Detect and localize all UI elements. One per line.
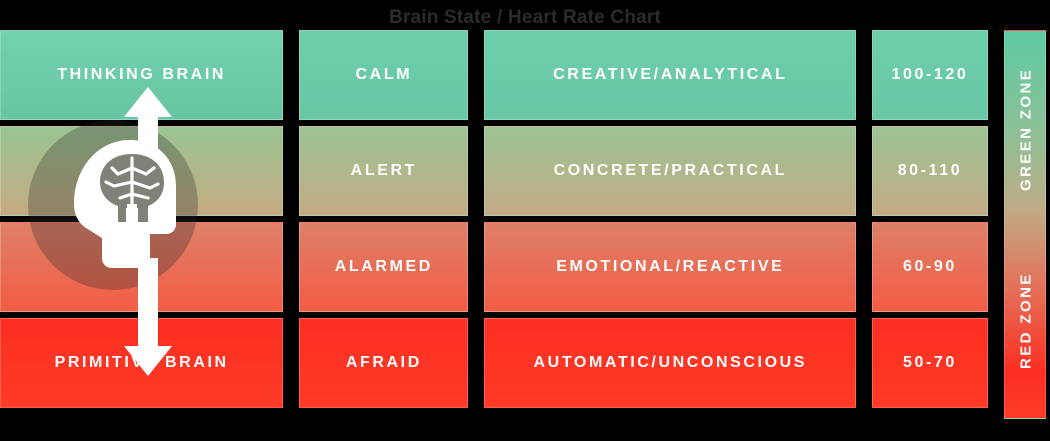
cell-mode: EMOTIONAL/REACTIVE (484, 222, 856, 312)
chart-grid: THINKING BRAIN CALM CREATIVE/ANALYTICAL … (0, 30, 1050, 419)
column-divider (856, 222, 872, 312)
table-row: ALARMED EMOTIONAL/REACTIVE 60-90 (0, 222, 988, 312)
cell-range: 60-90 (872, 222, 988, 312)
zone-bar: GREEN ZONE RED ZONE (1004, 30, 1046, 419)
cell-brain: PRIMITIVE BRAIN (0, 318, 283, 408)
brain-state-chart: Brain State / Heart Rate Chart THINKING … (0, 0, 1050, 441)
zone-label-red: RED ZONE (1005, 227, 1046, 415)
table-row: ALERT CONCRETE/PRACTICAL 80-110 (0, 126, 988, 216)
table-row: THINKING BRAIN CALM CREATIVE/ANALYTICAL … (0, 30, 988, 120)
zone-label-green: GREEN ZONE (1005, 35, 1046, 223)
cell-brain (0, 222, 283, 312)
cell-range: 100-120 (872, 30, 988, 120)
page-title: Brain State / Heart Rate Chart (0, 8, 1050, 30)
cell-mode: CONCRETE/PRACTICAL (484, 126, 856, 216)
cell-state: AFRAID (299, 318, 468, 408)
column-divider (856, 126, 872, 216)
cell-brain: THINKING BRAIN (0, 30, 283, 120)
cell-range: 80-110 (872, 126, 988, 216)
cell-state: ALERT (299, 126, 468, 216)
column-divider (856, 30, 872, 120)
table-row: PRIMITIVE BRAIN AFRAID AUTOMATIC/UNCONSC… (0, 318, 988, 408)
cell-brain (0, 126, 283, 216)
cell-mode: AUTOMATIC/UNCONSCIOUS (484, 318, 856, 408)
cell-state: ALARMED (299, 222, 468, 312)
cell-state: CALM (299, 30, 468, 120)
cell-mode: CREATIVE/ANALYTICAL (484, 30, 856, 120)
column-divider (856, 318, 872, 408)
cell-range: 50-70 (872, 318, 988, 408)
